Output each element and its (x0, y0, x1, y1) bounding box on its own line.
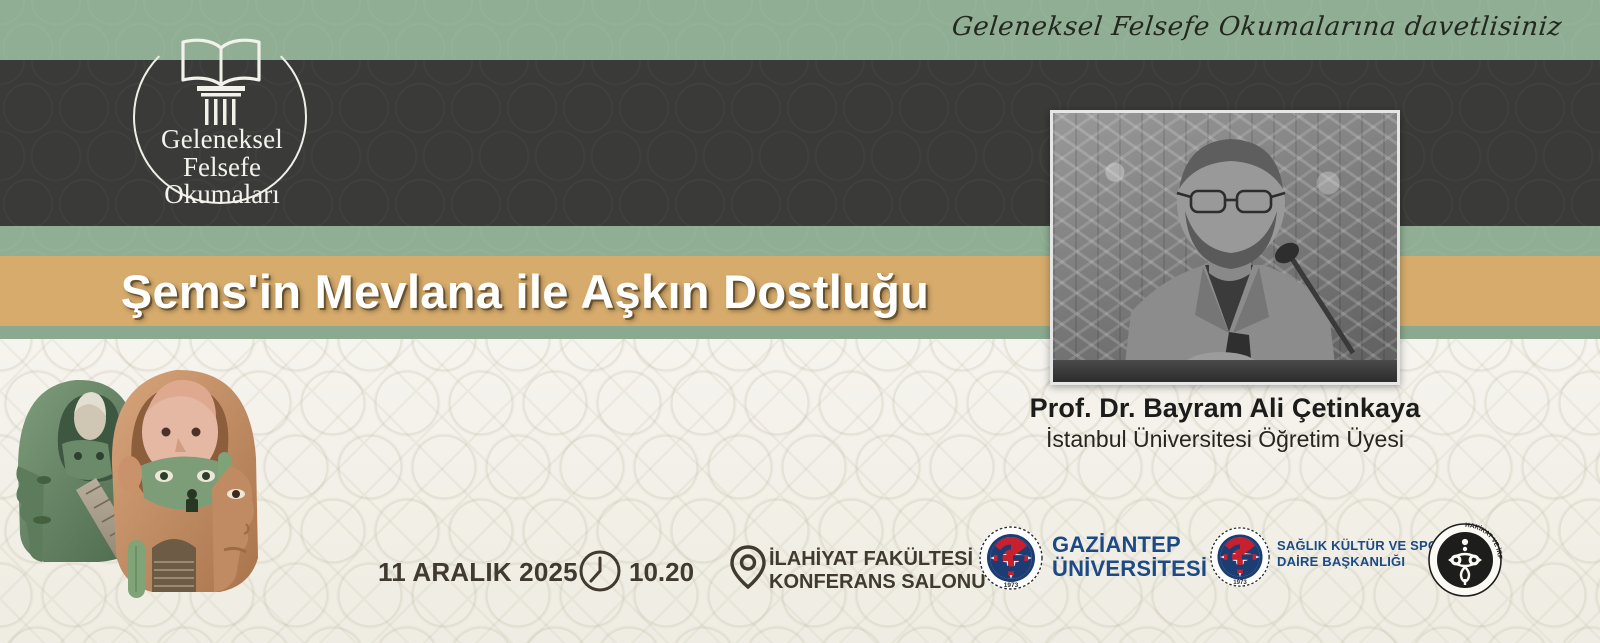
gaun-label-line-1: GAZİANTEP (1052, 533, 1207, 557)
clock-icon (578, 549, 622, 593)
surreal-heads-artwork (0, 348, 300, 598)
svg-text:1973: 1973 (1233, 579, 1247, 586)
logo-wordmark: Geleneksel Felsefe Okumaları (127, 126, 317, 209)
gaziantep-universitesi-label: GAZİANTEP ÜNİVERSİTESİ (1052, 533, 1207, 581)
hakikat-ve-irfan-toplulugu-seal: HAKİKAT VE İRFAN TOP. (1426, 521, 1504, 599)
svg-text:1973: 1973 (1004, 582, 1019, 589)
speaker-name: Prof. Dr. Bayram Ali Çetinkaya (1010, 393, 1440, 424)
gaun-label-line-2: ÜNİVERSİTESİ (1052, 557, 1207, 581)
photo-table-edge (1053, 360, 1400, 382)
logo-line-3: Okumaları (127, 181, 317, 209)
speaker-photo (1050, 110, 1400, 385)
venue-line-2: KONFERANS SALONU (769, 571, 986, 594)
invitation-line: Geleneksel Felsefe Okumalarına davetlisi… (950, 12, 1563, 42)
open-book-icon (175, 36, 267, 88)
venue-line-1: İLAHİYAT FAKÜLTESİ (769, 548, 986, 571)
brand-logo: Geleneksel Felsefe Okumaları (133, 22, 311, 212)
event-banner: Geleneksel Felsefe Okumalarına davetlisi… (0, 0, 1600, 643)
saglik-kultur-spor-label: SAĞLIK KÜLTÜR VE SPOR DAİRE BAŞKANLIĞI (1277, 538, 1448, 571)
event-title: Şems'in Mevlana ile Aşkın Dostluğu (0, 256, 1050, 326)
saglik-kultur-spor-seal: 1973 (1209, 526, 1271, 588)
event-time: 10.20 (629, 557, 694, 588)
sks-label-line-2: DAİRE BAŞKANLIĞI (1277, 554, 1448, 570)
sks-label-line-1: SAĞLIK KÜLTÜR VE SPOR (1277, 538, 1448, 554)
event-date: 11 ARALIK 2025 (378, 557, 578, 588)
speaker-portrait-figure (1053, 110, 1400, 382)
classical-column-icon (195, 84, 247, 128)
location-pin-icon (729, 544, 767, 590)
logo-line-2: Felsefe (127, 154, 317, 182)
event-venue: İLAHİYAT FAKÜLTESİ KONFERANS SALONU (769, 548, 986, 594)
speaker-role: İstanbul Üniversitesi Öğretim Üyesi (1010, 426, 1440, 453)
gaziantep-universitesi-seal: 1973 (978, 525, 1044, 591)
logo-line-1: Geleneksel (127, 126, 317, 154)
